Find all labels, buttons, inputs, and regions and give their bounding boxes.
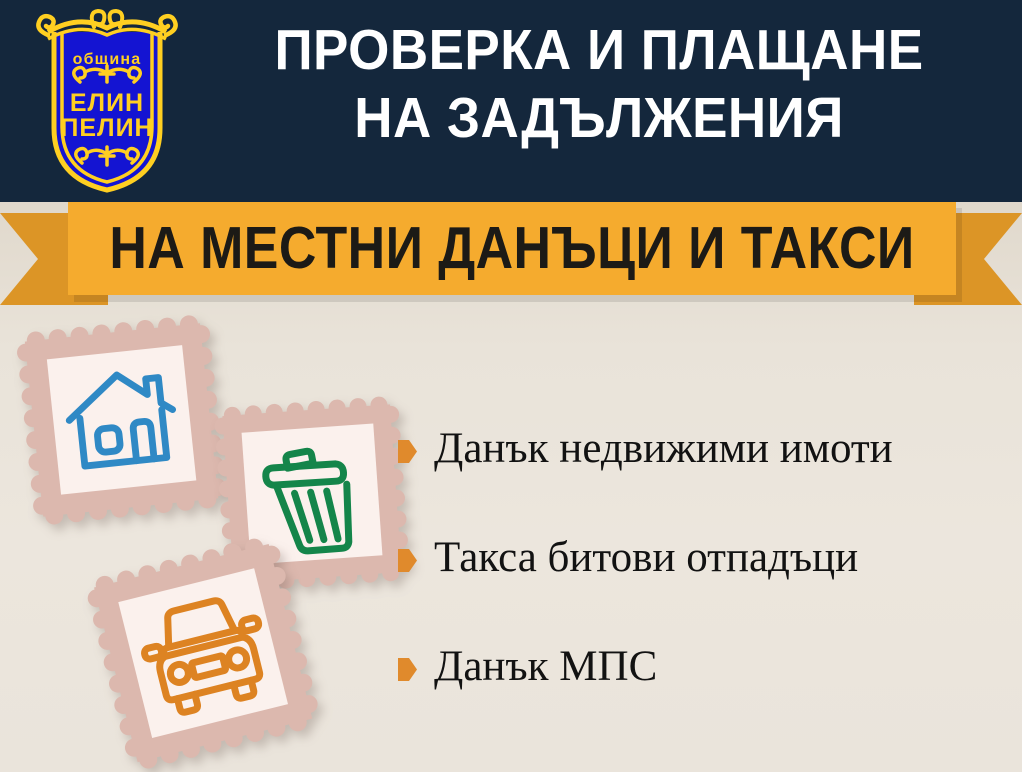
poster-canvas: ПРОВЕРКА И ПЛАЩАНЕ НА ЗАДЪЛЖЕНИЯ община xyxy=(0,0,1022,772)
stamp-vehicle-tax xyxy=(84,534,332,772)
list-item[interactable]: Такса битови отпадъци xyxy=(398,534,1008,582)
crest-line-1: ЕЛИН xyxy=(70,89,144,117)
stamp-property-tax xyxy=(8,306,234,542)
page-title: ПРОВЕРКА И ПЛАЩАНЕ НА ЗАДЪЛЖЕНИЯ xyxy=(214,16,984,152)
list-item-label: Данък МПС xyxy=(434,643,657,691)
ribbon-main-panel: НА МЕСТНИ ДАНЪЦИ И ТАКСИ xyxy=(68,201,956,295)
bullet-arrow-icon xyxy=(398,549,417,572)
list-item-label: Данък недвижими имоти xyxy=(434,425,893,473)
list-item[interactable]: Данък МПС xyxy=(398,643,1008,691)
bullet-arrow-icon xyxy=(398,440,417,463)
house-stamp-graphic xyxy=(8,306,234,542)
list-item-label: Такса битови отпадъци xyxy=(434,534,858,582)
crest-line-2: ПЕЛИН xyxy=(60,114,153,142)
list-item[interactable]: Данък недвижими имоти xyxy=(398,425,1008,473)
bullet-arrow-icon xyxy=(398,658,417,681)
ribbon-banner: НА МЕСТНИ ДАНЪЦИ И ТАКСИ xyxy=(0,198,1022,310)
coat-of-arms-icon: община ЕЛИН ПЕЛИН xyxy=(34,8,180,194)
municipality-crest: община ЕЛИН ПЕЛИН xyxy=(34,8,180,194)
ribbon-label: НА МЕСТНИ ДАНЪЦИ И ТАКСИ xyxy=(121,201,902,295)
services-list: Данък недвижими имоти Такса битови отпад… xyxy=(398,425,1008,752)
car-stamp-graphic xyxy=(84,534,332,772)
